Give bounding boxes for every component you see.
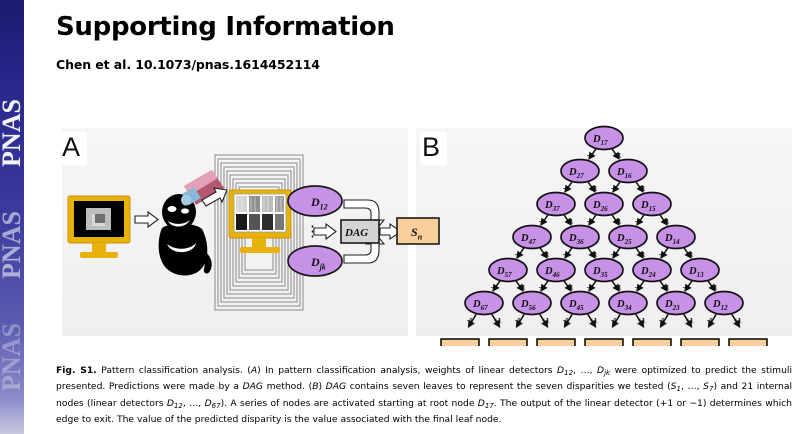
dag-node[interactable]: D24 [633,259,671,282]
dag-node[interactable]: D12 [705,292,743,315]
edge-label-minus-one: -1 [611,318,617,325]
edge-label-plus-one: +1 [710,285,718,292]
pnas-wordmark: PNAS [0,323,24,391]
figure-s1: A B [56,124,792,346]
edge-label-plus-one: +1 [518,285,526,292]
tree-nodes: D17D27D16D37D26D15D47D36D25D14D57D46D35D… [465,127,743,315]
tree-edges [468,149,739,327]
dag-node[interactable]: D67 [465,292,503,315]
edge-label-plus-one: +1 [566,285,574,292]
edge-label-plus-one: +1 [590,252,598,259]
arrow-stimulus-to-subject-icon [135,212,158,227]
edge-label-minus-one: -1 [683,285,689,292]
panel-a-label: A [60,132,87,165]
dag-box: DAG [341,220,379,243]
dag-leaf-node[interactable]: S2 [681,339,719,346]
dag-node[interactable]: D17 [585,127,623,150]
pnas-wordmark: PNAS [0,99,24,167]
dag-leaf-node[interactable]: S7 [441,339,479,346]
edge-label-minus-one: -1 [491,285,497,292]
panel-b-label: B [420,132,447,165]
edge-label-minus-one: -1 [659,252,665,259]
edge-label-minus-one: -1 [587,219,593,226]
article-citation: Chen et al. 10.1073/pnas.1614452114 [56,57,756,72]
tree-edge-labels: -1+1-1+1-1+1-1+1-1+1-1+1-1+1-1+1-1+1-1+1… [467,153,742,325]
figure-caption: Fig. S1. Pattern classification analysis… [56,364,792,427]
dag-node[interactable]: D27 [561,160,599,183]
tree-leaf-nodes: S7S6S5S4S3S2S1 [441,339,767,346]
dag-node[interactable]: D46 [537,259,575,282]
dag-node[interactable]: D35 [585,259,623,282]
edge-label-plus-one: +1 [662,219,670,226]
dag-node[interactable]: D56 [513,292,551,315]
pnas-wordmark: PNAS [0,211,24,279]
dag-tree-svg: -1+1-1+1-1+1-1+1-1+1-1+1-1+1-1+1-1+1-1+1… [416,124,792,346]
macaque-subject-icon [159,194,212,276]
edge-label-minus-one: -1 [539,285,545,292]
dag-leaf-node[interactable]: S6 [489,339,527,346]
dag-box-label: DAG [344,227,368,239]
edge-label-plus-one: +1 [638,318,646,325]
edge-label-plus-one: +1 [614,219,622,226]
edge-label-minus-one: -1 [563,186,569,193]
figure-caption-label: Fig. S1. [56,365,97,376]
dag-node[interactable]: D26 [585,193,623,216]
edge-label-plus-one: +1 [590,186,598,193]
edge-label-minus-one: -1 [467,318,473,325]
dag-node[interactable]: D47 [513,226,551,249]
edge-label-plus-one: +1 [542,318,550,325]
dag-leaf-node[interactable]: S1 [729,339,767,346]
edge-label-minus-one: -1 [611,252,617,259]
detector-node-bottom: Djk [288,246,342,276]
stimulus-monitor-icon [68,196,130,258]
edge-label-plus-one: +1 [614,285,622,292]
page-title: Supporting Information [56,14,756,41]
pnas-brand-spine: PNAS PNAS PNAS [0,0,24,434]
panel-a-svg: D12 Djk ⋮ [62,128,408,336]
dag-node[interactable]: D34 [609,292,647,315]
dag-node[interactable]: D37 [537,193,575,216]
edge-label-plus-one: +1 [542,252,550,259]
dag-leaf-node[interactable]: S4 [585,339,623,346]
edge-label-minus-one: -1 [611,186,617,193]
edge-label-plus-one: +1 [590,318,598,325]
edge-label-minus-one: -1 [635,219,641,226]
edge-label-minus-one: -1 [707,318,713,325]
dag-node[interactable]: D16 [609,160,647,183]
edge-label-minus-one: -1 [563,318,569,325]
dag-node[interactable]: D14 [657,226,695,249]
dag-node[interactable]: D23 [657,292,695,315]
dag-node[interactable]: D25 [609,226,647,249]
dag-node[interactable]: D57 [489,259,527,282]
edge-label-plus-one: +1 [566,219,574,226]
edge-label-minus-one: -1 [587,153,593,160]
edge-label-plus-one: +1 [662,285,670,292]
figure-caption-text: Pattern classification analysis. (A) In … [56,365,792,425]
edge-label-minus-one: -1 [515,318,521,325]
dag-node[interactable]: D36 [561,226,599,249]
dag-node[interactable]: D13 [681,259,719,282]
edge-label-plus-one: +1 [734,318,742,325]
edge-label-minus-one: -1 [659,318,665,325]
edge-label-plus-one: +1 [494,318,502,325]
dag-leaf-node[interactable]: S3 [633,339,671,346]
edge-label-minus-one: -1 [563,252,569,259]
dag-node[interactable]: D15 [633,193,671,216]
dag-leaf-node[interactable]: S5 [537,339,575,346]
panel-a-diagram: D12 Djk ⋮ [62,128,408,336]
edge-label-minus-one: -1 [635,285,641,292]
panel-b-dag-tree: -1+1-1+1-1+1-1+1-1+1-1+1-1+1-1+1-1+1-1+1… [416,124,792,346]
edge-label-minus-one: -1 [587,285,593,292]
edge-label-plus-one: +1 [686,318,694,325]
dag-node[interactable]: D45 [561,292,599,315]
edge-label-minus-one: -1 [539,219,545,226]
edge-label-plus-one: +1 [638,252,646,259]
edge-label-minus-one: -1 [515,252,521,259]
document-header: Supporting Information Chen et al. 10.10… [56,14,756,72]
edge-label-plus-one: +1 [686,252,694,259]
edge-label-plus-one: +1 [614,153,622,160]
edge-label-plus-one: +1 [638,186,646,193]
detector-node-top: D12 [288,186,342,216]
